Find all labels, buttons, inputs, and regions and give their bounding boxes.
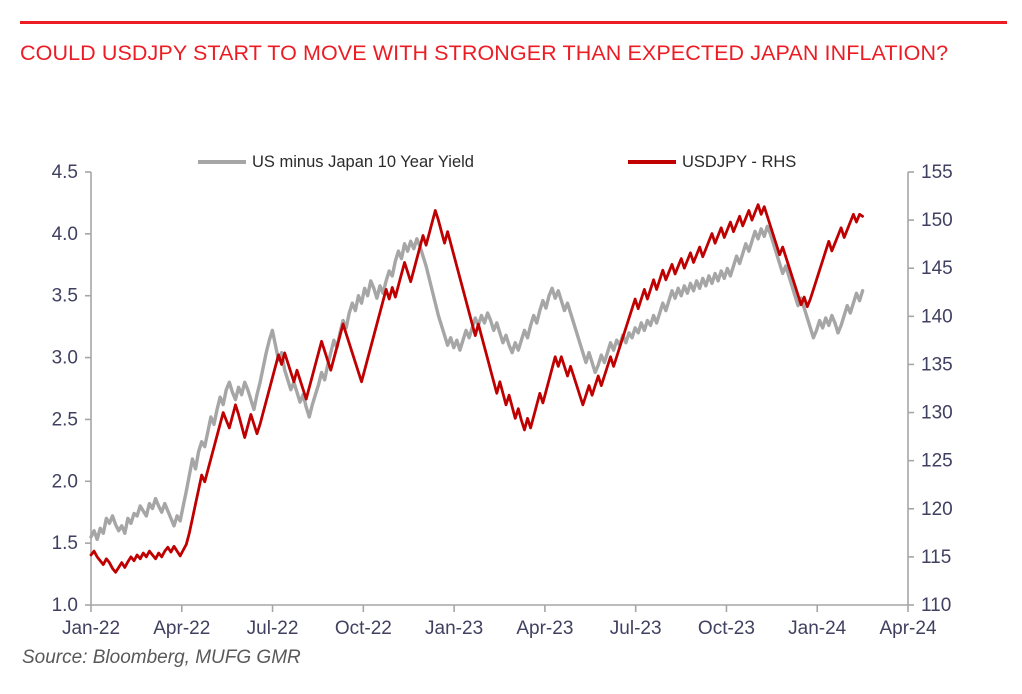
svg-text:Jan-23: Jan-23 xyxy=(425,618,483,639)
svg-text:1.5: 1.5 xyxy=(52,533,78,554)
svg-text:125: 125 xyxy=(921,451,953,472)
svg-text:2.5: 2.5 xyxy=(52,409,78,430)
svg-text:130: 130 xyxy=(921,403,953,424)
page-title: COULD USDJPY START TO MOVE WITH STRONGER… xyxy=(20,38,980,68)
svg-text:3.5: 3.5 xyxy=(52,286,78,307)
svg-text:Jul-22: Jul-22 xyxy=(247,618,299,639)
svg-text:Jul-23: Jul-23 xyxy=(610,618,662,639)
dual-axis-line-chart: 1.01.52.02.53.03.54.04.51101151201251301… xyxy=(0,140,1022,640)
series-line-us-minus-japan-yield xyxy=(91,226,863,539)
chart-page: COULD USDJPY START TO MOVE WITH STRONGER… xyxy=(0,0,1022,694)
svg-text:155: 155 xyxy=(921,162,953,183)
svg-text:Apr-22: Apr-22 xyxy=(153,618,210,639)
svg-text:Oct-22: Oct-22 xyxy=(335,618,392,639)
svg-text:120: 120 xyxy=(921,499,953,520)
header-rule xyxy=(20,21,1007,24)
svg-text:145: 145 xyxy=(921,258,953,279)
svg-text:Apr-23: Apr-23 xyxy=(516,618,573,639)
series-line-usdjpy xyxy=(91,205,863,573)
svg-text:2.0: 2.0 xyxy=(52,471,78,492)
svg-text:150: 150 xyxy=(921,210,953,231)
svg-text:3.0: 3.0 xyxy=(52,348,78,369)
svg-text:Jan-24: Jan-24 xyxy=(788,618,847,639)
svg-text:135: 135 xyxy=(921,354,953,375)
chart-container: 1.01.52.02.53.03.54.04.51101151201251301… xyxy=(0,140,1022,640)
svg-text:4.5: 4.5 xyxy=(52,162,78,183)
svg-text:4.0: 4.0 xyxy=(52,224,78,245)
svg-text:Oct-23: Oct-23 xyxy=(698,618,755,639)
svg-text:110: 110 xyxy=(921,595,951,616)
source-note: Source: Bloomberg, MUFG GMR xyxy=(22,647,301,669)
svg-text:Apr-24: Apr-24 xyxy=(879,618,936,639)
svg-text:115: 115 xyxy=(921,547,951,568)
svg-text:1.0: 1.0 xyxy=(52,595,78,616)
svg-text:Jan-22: Jan-22 xyxy=(62,618,120,639)
svg-text:140: 140 xyxy=(921,306,953,327)
